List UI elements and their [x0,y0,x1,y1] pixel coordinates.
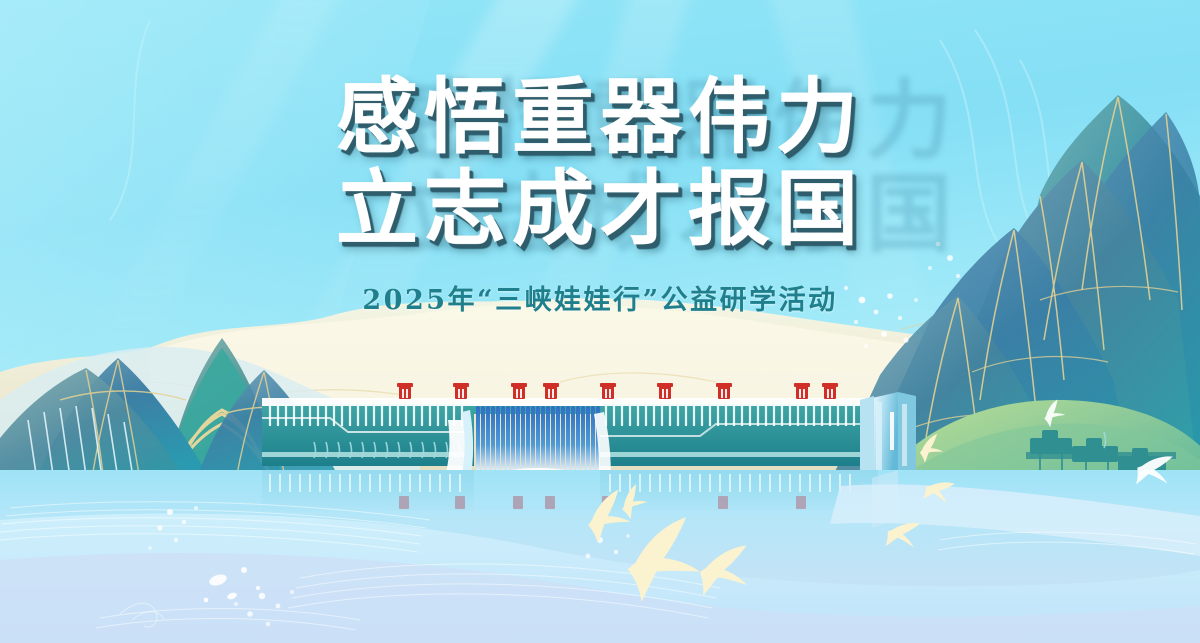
banner-root: 感悟重器伟力 立志成才报国 感悟重器伟力 立志成才报国 2025年“三峡娃娃行”… [0,0,1200,643]
ship-lift-towers [860,392,916,480]
river-water [0,470,1200,643]
scene-illustration [0,0,1200,643]
